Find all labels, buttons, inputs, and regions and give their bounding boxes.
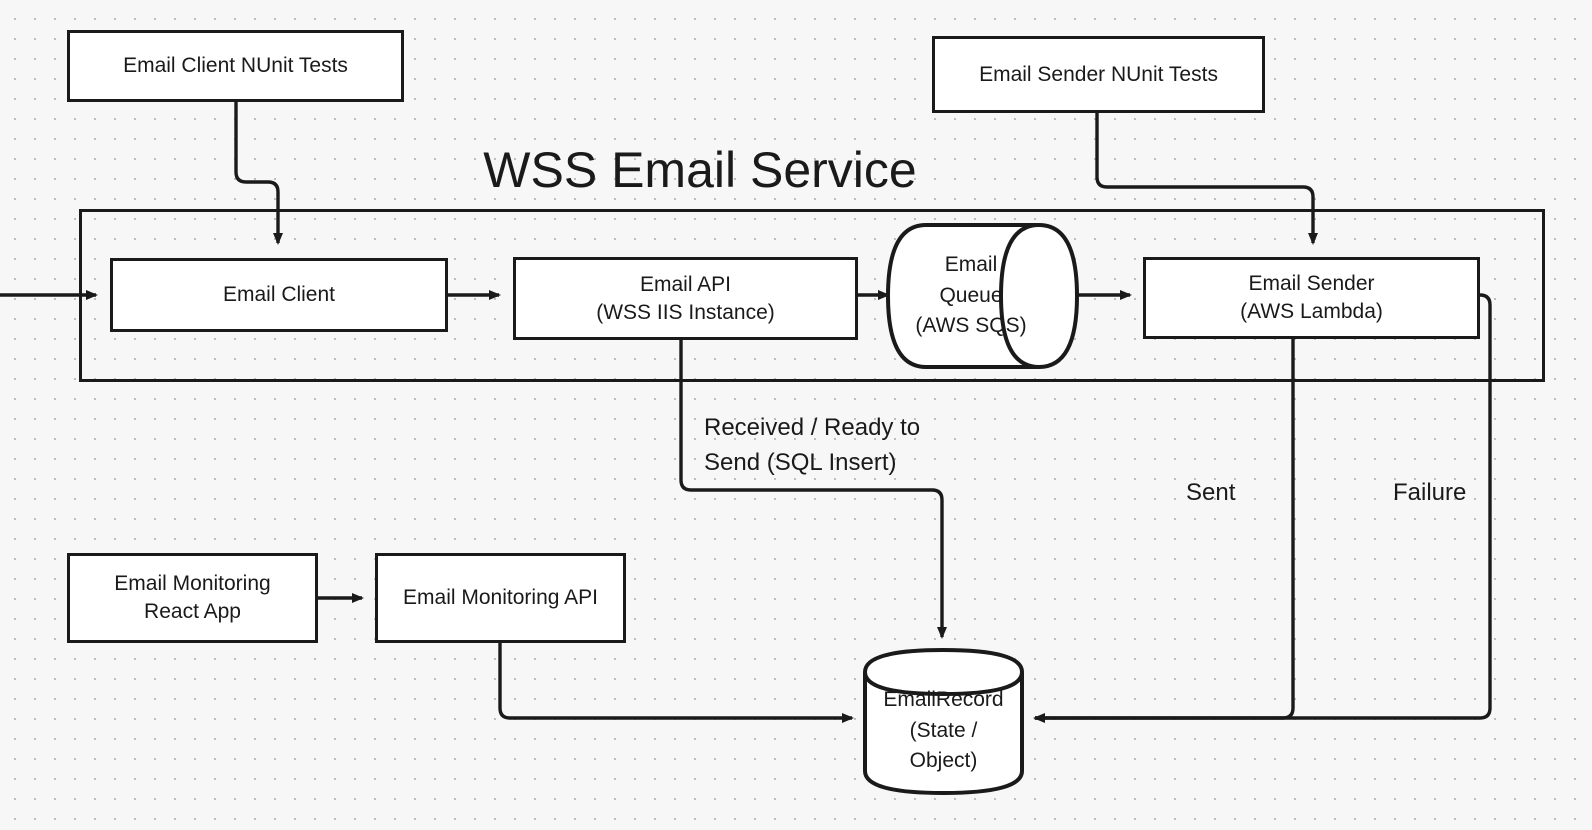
- page-title: WSS Email Service: [460, 145, 940, 195]
- email-sender-box[interactable]: Email Sender (AWS Lambda): [1143, 257, 1480, 339]
- email-client-nunit-tests-box[interactable]: Email Client NUnit Tests: [67, 30, 404, 102]
- email-queue-label: Email Queue (AWS SQS): [896, 227, 1046, 365]
- email-client-box[interactable]: Email Client: [110, 258, 448, 332]
- email-monitoring-api-box[interactable]: Email Monitoring API: [375, 553, 626, 643]
- sql-insert-edge-label: Received / Ready to Send (SQL Insert): [704, 411, 984, 481]
- failure-edge-label: Failure: [1393, 476, 1493, 511]
- email-monitoring-react-app-box[interactable]: Email Monitoring React App: [67, 553, 318, 643]
- email-api-box[interactable]: Email API (WSS IIS Instance): [513, 257, 858, 340]
- edge-monitoring-api-to-email-record: [500, 643, 852, 718]
- email-sender-nunit-tests-box[interactable]: Email Sender NUnit Tests: [932, 36, 1265, 113]
- edge-email-sender-sent-to-email-record: [1035, 339, 1293, 718]
- diagram-canvas: WSS Email Service Email Client NUnit Tes…: [0, 0, 1592, 830]
- email-record-label: EmailRecord (State / Object): [866, 672, 1021, 790]
- edge-email-api-to-email-record: [681, 340, 942, 637]
- sent-edge-label: Sent: [1186, 476, 1276, 511]
